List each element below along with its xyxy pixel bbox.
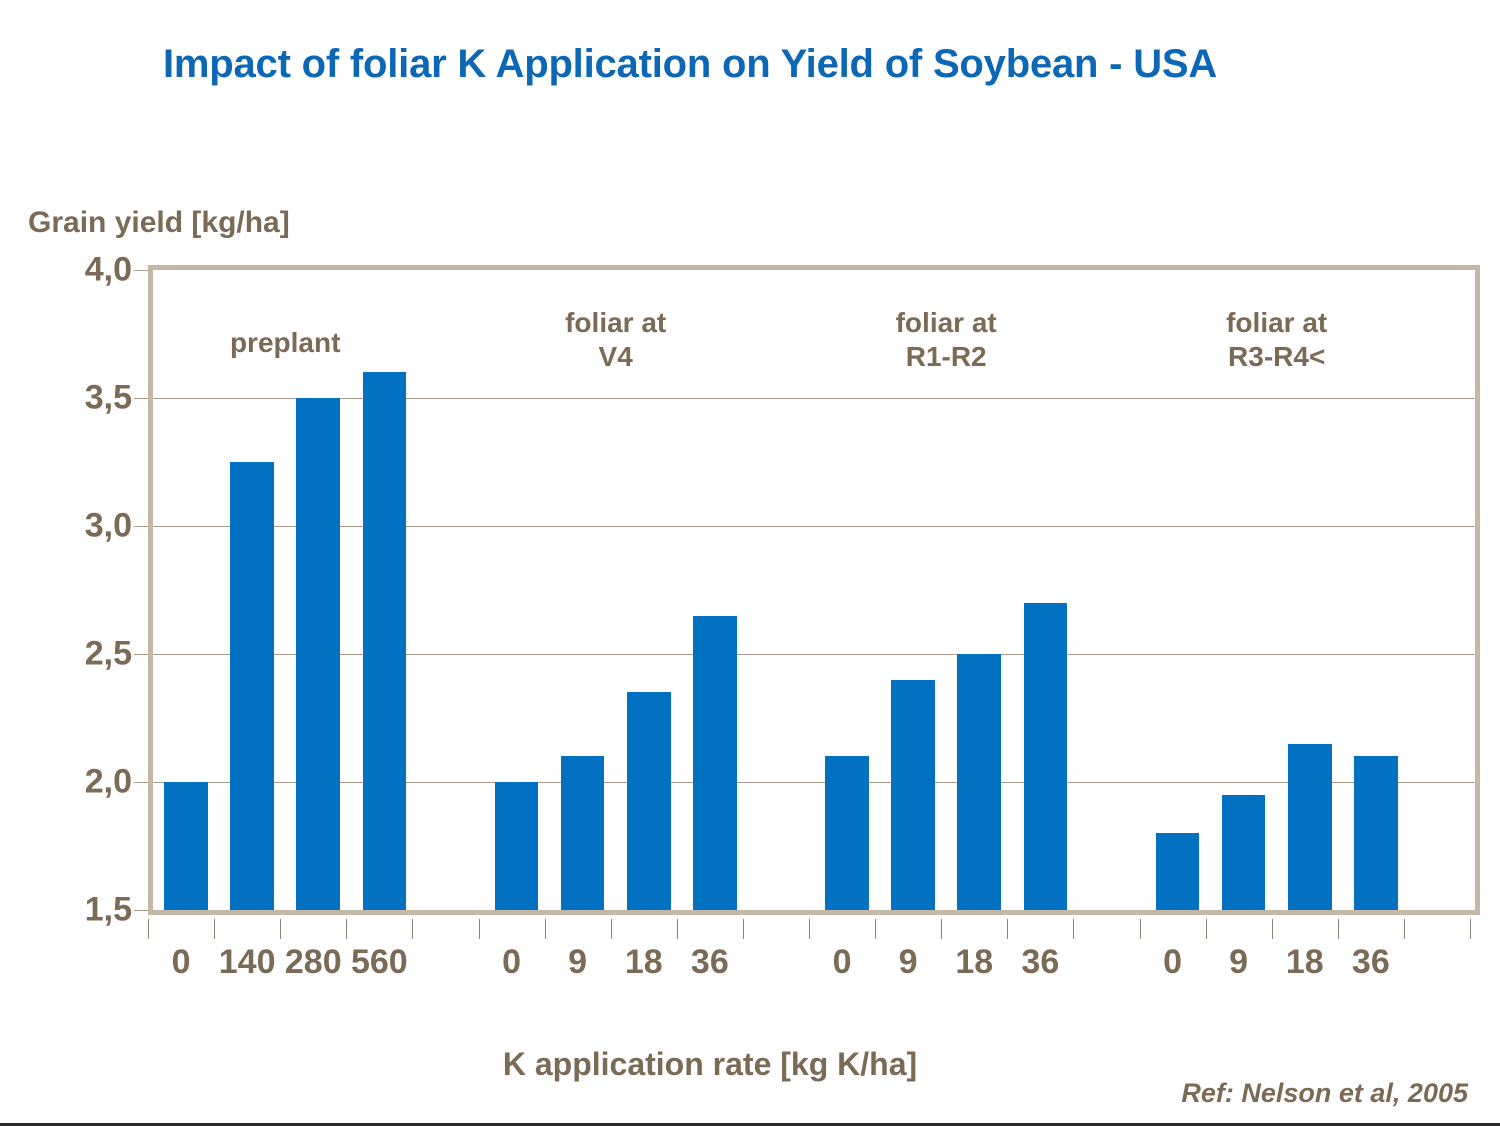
gridline — [153, 782, 1475, 783]
x-tick-mark — [743, 919, 744, 939]
x-tick-mark — [1007, 919, 1008, 939]
y-tick-label: 1,5 — [12, 891, 132, 930]
y-tick-mark — [134, 398, 148, 399]
page-title: Impact of foliar K Application on Yield … — [163, 40, 1403, 89]
y-tick-mark — [134, 782, 148, 783]
y-axis-title: Grain yield [kg/ha] — [28, 206, 290, 240]
x-tick-label: 9 — [1229, 943, 1248, 982]
gridline — [153, 654, 1475, 655]
x-tick-label: 0 — [1163, 943, 1182, 982]
x-tick-label: 0 — [833, 943, 852, 982]
x-tick-label: 560 — [351, 943, 408, 982]
x-tick-label: 18 — [625, 943, 663, 982]
y-tick-label: 3,0 — [12, 507, 132, 546]
bar[interactable] — [164, 782, 208, 910]
y-tick-mark — [134, 654, 148, 655]
bar[interactable] — [957, 654, 1001, 910]
bar[interactable] — [1024, 603, 1068, 910]
bar[interactable] — [891, 680, 935, 910]
x-axis: 0140280560091836091836091836 — [148, 915, 1480, 1005]
gridline — [153, 526, 1475, 527]
group-annotation: foliar at V4 — [470, 306, 761, 373]
bar[interactable] — [1288, 744, 1332, 910]
x-tick-mark — [941, 919, 942, 939]
bar[interactable] — [363, 372, 407, 910]
x-tick-mark — [1073, 919, 1074, 939]
bar[interactable] — [693, 616, 737, 910]
bar[interactable] — [1156, 833, 1200, 910]
x-tick-mark — [1404, 919, 1405, 939]
x-tick-mark — [677, 919, 678, 939]
bar[interactable] — [495, 782, 539, 910]
x-tick-mark — [1470, 919, 1471, 939]
gridline — [153, 398, 1475, 399]
x-tick-label: 140 — [219, 943, 276, 982]
x-tick-mark — [545, 919, 546, 939]
y-tick-label: 3,5 — [12, 379, 132, 418]
x-tick-label: 36 — [1021, 943, 1059, 982]
x-tick-mark — [809, 919, 810, 939]
bar[interactable] — [230, 462, 274, 910]
chart-plot-inner: preplantfoliar at V4foliar at R1-R2folia… — [153, 270, 1475, 910]
y-tick-mark — [134, 910, 148, 911]
x-tick-mark — [1206, 919, 1207, 939]
y-tick-mark — [134, 270, 148, 271]
group-annotation: foliar at R3-R4< — [1131, 306, 1422, 373]
x-tick-label: 36 — [1352, 943, 1390, 982]
y-tick-label: 4,0 — [12, 251, 132, 290]
y-tick-label: 2,0 — [12, 763, 132, 802]
x-tick-label: 9 — [899, 943, 918, 982]
x-tick-mark — [214, 919, 215, 939]
x-tick-mark — [1140, 919, 1141, 939]
chart-plot-area: preplantfoliar at V4foliar at R1-R2folia… — [148, 265, 1480, 915]
y-tick-mark — [134, 526, 148, 527]
bar[interactable] — [296, 398, 340, 910]
bar[interactable] — [627, 692, 671, 910]
bar[interactable] — [1222, 795, 1266, 910]
group-annotation: preplant — [140, 326, 431, 360]
x-tick-mark — [875, 919, 876, 939]
bar[interactable] — [561, 756, 605, 910]
x-tick-label: 280 — [285, 943, 342, 982]
x-tick-mark — [1338, 919, 1339, 939]
reference-note: Ref: Nelson et al, 2005 — [1181, 1078, 1468, 1109]
bar[interactable] — [825, 756, 869, 910]
x-tick-mark — [148, 919, 149, 939]
x-tick-mark — [1272, 919, 1273, 939]
x-tick-mark — [412, 919, 413, 939]
x-tick-label: 18 — [1286, 943, 1324, 982]
x-tick-mark — [280, 919, 281, 939]
x-tick-label: 18 — [955, 943, 993, 982]
group-annotation: foliar at R1-R2 — [801, 306, 1092, 373]
x-tick-label: 9 — [568, 943, 587, 982]
bar[interactable] — [1354, 756, 1398, 910]
y-tick-label: 2,5 — [12, 635, 132, 674]
x-tick-mark — [479, 919, 480, 939]
x-tick-label: 0 — [502, 943, 521, 982]
x-tick-label: 0 — [172, 943, 191, 982]
x-tick-mark — [611, 919, 612, 939]
x-tick-mark — [346, 919, 347, 939]
x-tick-label: 36 — [691, 943, 729, 982]
